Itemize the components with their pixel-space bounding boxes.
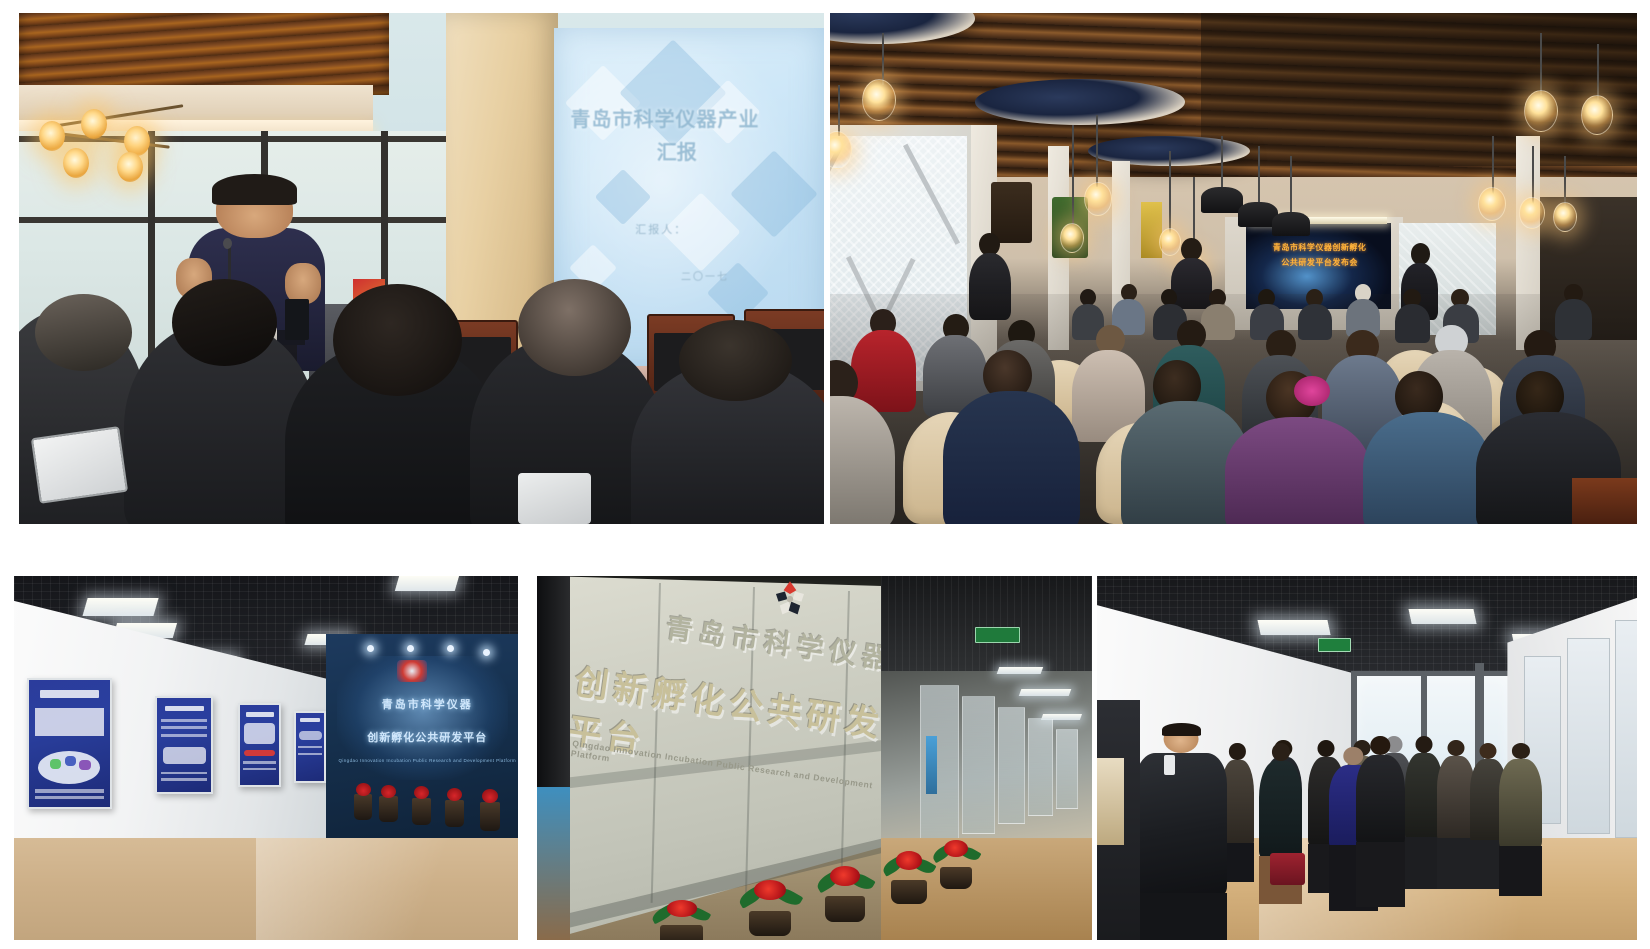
speaker-hand-right xyxy=(285,263,321,304)
ceiling-light-panel xyxy=(1019,689,1072,696)
screen-date: 二〇一七 xyxy=(681,268,729,283)
endwall-sign-line2: 创新孵化公共研发平台 xyxy=(337,729,518,745)
foreground-attendee-navy xyxy=(943,391,1080,524)
handbag xyxy=(1270,853,1305,886)
ceiling-shadow xyxy=(1201,13,1637,166)
glass-panel xyxy=(962,696,995,834)
photo-collage: 青岛市科学仪器产业 汇报 汇报人： 二〇一七 xyxy=(0,0,1650,949)
display-panel xyxy=(1567,638,1610,835)
cone-pendant-lamp xyxy=(1272,212,1310,236)
yellow-poster xyxy=(1141,202,1162,258)
info-poster xyxy=(155,696,213,794)
ceiling-light-panel xyxy=(996,667,1043,674)
wood-slat-ceiling xyxy=(19,13,389,95)
flower-planter xyxy=(445,800,464,827)
left-panel-light xyxy=(1097,758,1124,845)
light-bulb-icon xyxy=(81,109,107,139)
globe-pendant-lamp xyxy=(1581,95,1613,135)
display-panel xyxy=(1615,620,1637,838)
attendee xyxy=(1395,304,1431,342)
audience-head xyxy=(679,320,792,402)
red-bromeliad-planter xyxy=(931,838,981,889)
tablet-device xyxy=(518,473,590,524)
visitors-touring-photo xyxy=(1097,576,1637,940)
audience-head xyxy=(35,294,132,371)
signage-wall-photo: 青岛市科学仪器 创新孵化公共研发平台 Qingdao Innovation In… xyxy=(537,576,1092,940)
audience-head xyxy=(172,279,277,366)
info-poster xyxy=(238,703,281,787)
red-bromeliad-planter xyxy=(815,864,876,922)
exit-sign xyxy=(1318,638,1350,653)
ceiling-light-panel xyxy=(1257,620,1330,635)
screen-presenter-label: 汇报人： xyxy=(635,221,687,237)
projection-text-line2: 公共研发平台发布会 xyxy=(1254,257,1385,268)
visitor-dark-jacket xyxy=(1356,736,1405,907)
globe-pendant-lamp xyxy=(1553,202,1577,232)
left-edge-reflection xyxy=(537,787,570,940)
flower-planter xyxy=(379,796,397,821)
wooden-bench xyxy=(1572,478,1637,524)
chandelier xyxy=(35,95,212,187)
foreground-visitor xyxy=(1135,725,1227,940)
flower-planter xyxy=(412,798,431,825)
light-bulb-icon xyxy=(39,121,65,151)
audience-head xyxy=(333,284,462,396)
company-logo xyxy=(397,660,427,682)
globe-pendant-lamp xyxy=(1524,90,1558,132)
floor-reflection xyxy=(256,838,518,940)
visitor-pointing xyxy=(1499,743,1542,896)
exit-sign xyxy=(975,627,1019,643)
foreground-attendee-blue xyxy=(1363,412,1492,524)
audience-hall-photo: 青岛市科学仪器创新孵化 公共研发平台发布会 xyxy=(830,13,1637,524)
info-poster xyxy=(27,678,113,809)
globe-pendant-lamp xyxy=(1060,223,1084,253)
glass-panel xyxy=(998,707,1026,823)
speaker-hair xyxy=(212,174,297,205)
flower-planter xyxy=(480,802,500,831)
attendee xyxy=(1201,304,1235,340)
window-frame xyxy=(1351,671,1513,676)
screen-title-line2: 汇报 xyxy=(657,136,697,165)
attendee xyxy=(1555,299,1592,340)
globe-pendant-lamp xyxy=(1478,187,1506,221)
speaker-at-podium-photo: 青岛市科学仪器产业 汇报 汇报人： 二〇一七 xyxy=(19,13,824,524)
projection-text-line1: 青岛市科学仪器创新孵化 xyxy=(1254,242,1385,253)
shirt-collar xyxy=(1164,755,1175,774)
globe-pendant-lamp xyxy=(1519,197,1545,229)
endwall-sign-english: Qingdao Innovation Incubation Public Res… xyxy=(337,758,518,763)
audience-head xyxy=(518,279,631,376)
red-bromeliad-planter xyxy=(737,878,804,936)
corridor-ceiling xyxy=(881,576,1092,671)
poster-corridor-photo: 青岛市科学仪器 创新孵化公共研发平台 Qingdao Innovation In… xyxy=(14,576,518,940)
attendee xyxy=(1298,304,1332,340)
light-bulb-icon xyxy=(63,148,89,178)
raised-phone xyxy=(285,299,309,340)
wall-poster xyxy=(926,736,937,794)
red-bromeliad-planter xyxy=(648,896,715,940)
red-bromeliad-planter xyxy=(881,849,937,904)
screen-title-line1: 青岛市科学仪器产业 xyxy=(570,103,823,132)
cone-pendant-lamp xyxy=(1201,187,1243,213)
flower-planter xyxy=(354,794,372,819)
ceiling-light-panel xyxy=(395,576,460,591)
tablet-device xyxy=(31,426,128,504)
endwall-sign-line1: 青岛市科学仪器 xyxy=(347,696,508,712)
foreground-attendee-purple xyxy=(1225,417,1370,524)
info-poster xyxy=(294,711,327,784)
light-bulb-icon xyxy=(117,152,143,182)
globe-pendant-lamp xyxy=(1159,228,1181,256)
ceiling-light-panel xyxy=(82,598,158,616)
wall-artwork xyxy=(991,182,1031,243)
ceiling-light-panel xyxy=(1409,609,1477,624)
foreground-visitor-hair xyxy=(1162,723,1201,736)
glass-panel xyxy=(1056,729,1078,809)
globe-pendant-lamp xyxy=(1084,182,1112,216)
glass-panel xyxy=(1028,718,1053,816)
